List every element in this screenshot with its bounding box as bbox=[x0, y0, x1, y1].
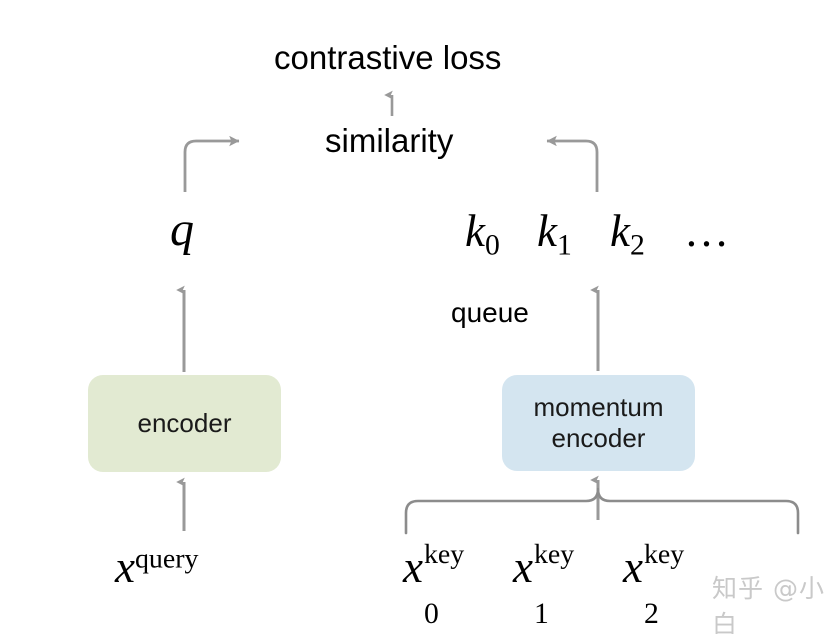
key-input-2-base: x bbox=[623, 542, 643, 592]
contrastive-loss-label: contrastive loss bbox=[274, 41, 501, 74]
diagram-canvas: contrastive loss similarity queue q k0 k… bbox=[0, 0, 826, 634]
encoder-box[interactable]: encoder bbox=[88, 375, 281, 472]
zhihu-watermark: 知乎 @小白 bbox=[712, 569, 826, 634]
query-input-symbol: xquery bbox=[115, 545, 199, 590]
encoder-box-label: encoder bbox=[138, 408, 232, 439]
key-symbol-1-subscript: 1 bbox=[557, 229, 572, 261]
key-input-symbol-1: xkey1 bbox=[513, 545, 533, 590]
key-symbol-2-subscript: 2 bbox=[630, 229, 645, 261]
similarity-label: similarity bbox=[325, 124, 453, 157]
arrow-layer bbox=[0, 0, 826, 634]
key-input-symbol-0: xkey0 bbox=[403, 545, 423, 590]
arrow-q-to-similarity bbox=[185, 141, 239, 192]
key-input-2-superscript: key bbox=[644, 541, 684, 569]
key-symbol-0-subscript: 0 bbox=[485, 229, 500, 261]
queue-label: queue bbox=[451, 299, 529, 327]
key-symbol-0-base: k bbox=[465, 206, 485, 256]
key-symbol-1: k1 bbox=[537, 209, 572, 261]
key-input-0-superscript: key bbox=[424, 541, 464, 569]
momentum-encoder-box-label: momentumencoder bbox=[533, 392, 663, 453]
key-input-2-subscript: 2 bbox=[644, 600, 659, 630]
key-input-symbol-2: xkey2 bbox=[623, 545, 643, 590]
curly-brace-key-inputs bbox=[406, 489, 798, 533]
key-input-1-base: x bbox=[513, 542, 533, 592]
key-symbol-2: k2 bbox=[610, 209, 645, 261]
query-input-superscript: query bbox=[135, 544, 199, 575]
key-symbol-0: k0 bbox=[465, 209, 500, 261]
momentum-encoder-label-line1: momentum bbox=[533, 392, 663, 422]
momentum-encoder-box[interactable]: momentumencoder bbox=[502, 375, 695, 471]
key-input-1-subscript: 1 bbox=[534, 600, 549, 630]
key-symbol-1-base: k bbox=[537, 206, 557, 256]
momentum-encoder-label-line2: encoder bbox=[552, 423, 646, 453]
arrow-k-to-similarity bbox=[547, 141, 597, 192]
query-input-base: x bbox=[115, 542, 135, 592]
query-vector-symbol: q bbox=[170, 206, 194, 254]
key-input-1-superscript: key bbox=[534, 541, 574, 569]
key-input-0-base: x bbox=[403, 542, 423, 592]
key-input-0-subscript: 0 bbox=[424, 600, 439, 630]
key-symbol-2-base: k bbox=[610, 206, 630, 256]
keys-ellipsis: … bbox=[684, 209, 732, 254]
